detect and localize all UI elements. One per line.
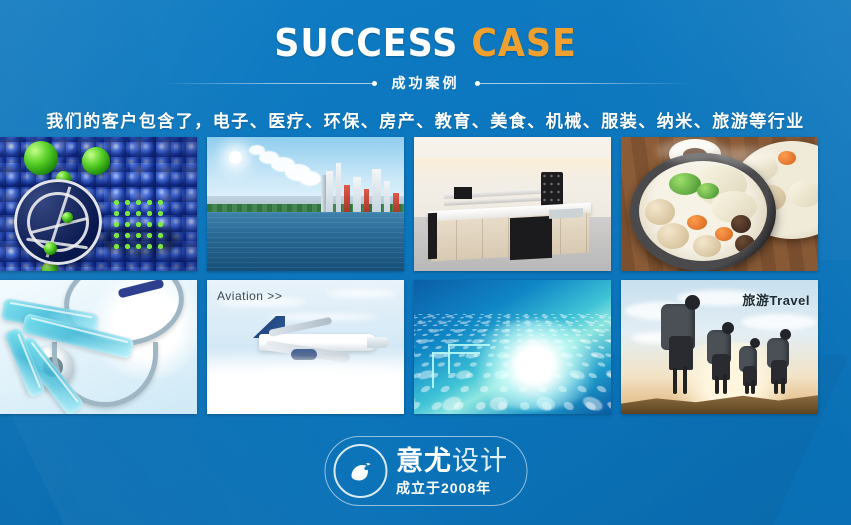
divider-line-right: [476, 83, 691, 84]
title-word-case: CASE: [471, 21, 576, 65]
gallery-grid: Aviation >>: [0, 137, 851, 414]
gallery-item-aviation[interactable]: Aviation >>: [207, 280, 404, 414]
bird-leaf-icon: [333, 444, 387, 498]
brand-established: 成立于2008年: [396, 481, 491, 495]
brand-name-light: 设计: [452, 446, 508, 476]
poster-canvas: SUCCESS CASE 成功案例 我们的客户包含了，电子、医疗、环保、房产、教…: [0, 0, 851, 525]
gallery-item-nanotechnology[interactable]: [0, 137, 197, 271]
brand-name-bold: 意尤: [396, 446, 452, 476]
header: SUCCESS CASE 成功案例 我们的客户包含了，电子、医疗、环保、房产、教…: [0, 0, 851, 132]
page-title: SUCCESS CASE: [34, 24, 817, 62]
gallery-item-medical-equipment[interactable]: [0, 280, 197, 414]
sun-icon: [229, 151, 242, 164]
subtitle-row: 成功案例: [0, 73, 851, 93]
brand-text: 意尤设计 成立于2008年: [396, 448, 508, 495]
environmental-protection-image: [207, 137, 404, 271]
subtitle-cn: 成功案例: [376, 73, 476, 93]
tagline: 我们的客户包含了，电子、医疗、环保、房产、教育、美食、机械、服装、纳米、旅游等行…: [0, 107, 851, 132]
electronics-circuit-image: [414, 280, 611, 414]
factory-silhouette: [324, 159, 402, 215]
divider-dot-icon: [372, 81, 377, 86]
gallery-item-food-hotpot[interactable]: [621, 137, 818, 271]
divider-line-left: [161, 83, 376, 84]
gallery-item-caption: Aviation >>: [217, 289, 282, 303]
laboratory-furniture-image: [414, 137, 611, 271]
brand-name: 意尤设计: [396, 448, 508, 475]
title-word-success: SUCCESS: [274, 21, 458, 65]
gallery-item-electronics-circuit[interactable]: [414, 280, 611, 414]
gallery-item-environmental-protection[interactable]: [207, 137, 404, 271]
divider-dot-icon: [475, 81, 480, 86]
gallery-item-laboratory-furniture[interactable]: [414, 137, 611, 271]
food-hotpot-image: [621, 137, 818, 271]
nanotechnology-image: [0, 137, 197, 271]
gallery-item-caption: 旅游Travel: [742, 290, 810, 309]
medical-equipment-image: [0, 280, 197, 414]
gallery-item-travel-tourism[interactable]: 旅游Travel: [621, 280, 818, 414]
brand-logo[interactable]: 意尤设计 成立于2008年: [324, 436, 527, 506]
